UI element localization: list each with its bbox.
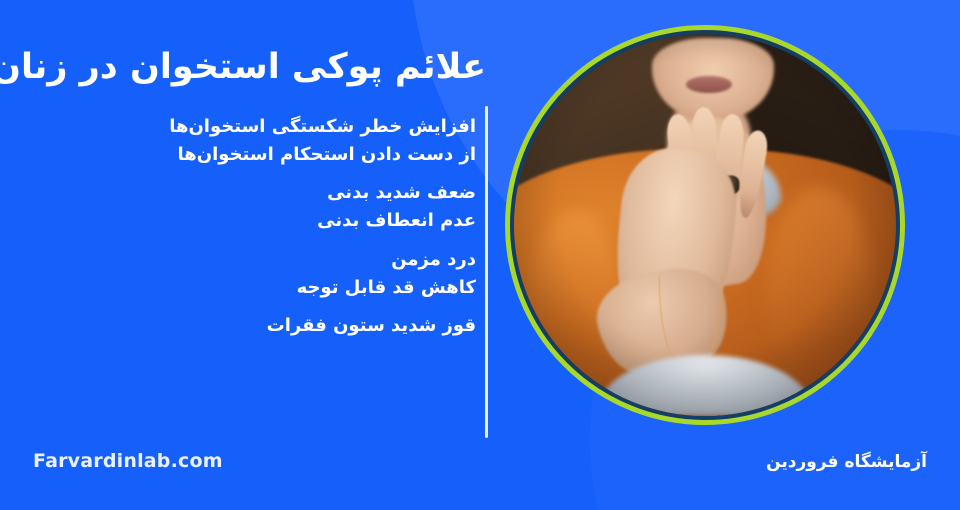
poster-canvas: علائم پوکی استخوان در زنان افزایش خطر شک… <box>0 0 960 510</box>
list-item: عدم انعطاف بدنی <box>38 212 500 230</box>
list-item: ضعف شدید بدنی <box>38 184 500 202</box>
symptom-list: افزایش خطر شکستگی استخوان‌ها از دست دادن… <box>38 118 500 335</box>
list-item: کاهش قد قابل توجه <box>38 279 500 297</box>
photo-image <box>514 34 896 416</box>
list-item: درد مزمن <box>38 251 500 269</box>
list-item: افزایش خطر شکستگی استخوان‌ها <box>38 118 500 136</box>
vertical-divider <box>485 106 488 438</box>
circular-photo-frame <box>505 25 905 425</box>
list-item: از دست دادن استحکام استخوان‌ها <box>38 146 500 164</box>
photo-vignette <box>514 34 896 416</box>
page-title: علائم پوکی استخوان در زنان <box>14 46 486 90</box>
list-item: قوز شدید ستون فقرات <box>38 317 500 335</box>
content-column: علائم پوکی استخوان در زنان افزایش خطر شک… <box>0 0 500 510</box>
website-url[interactable]: Farvardinlab.com <box>33 450 223 472</box>
lab-name: آزمایشگاه فروردین <box>766 452 927 472</box>
